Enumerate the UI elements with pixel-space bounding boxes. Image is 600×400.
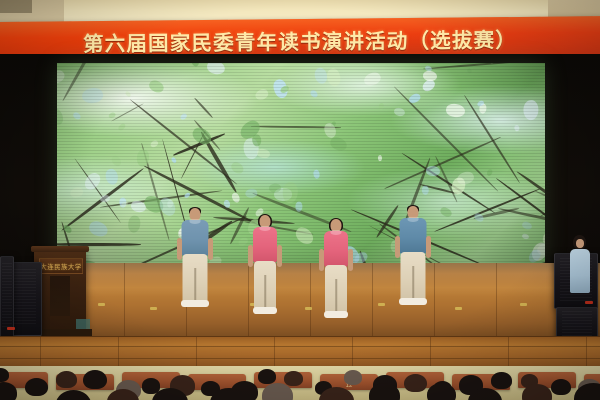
fascia-plank [40,337,119,369]
performer-4 [396,206,430,308]
performer-arm-left [248,245,253,267]
performer-shoes [181,300,209,307]
fascia-plank [508,337,587,369]
screen-foliage [309,89,319,99]
fascia-plank [196,337,275,369]
speaker-led-indicator [7,327,15,330]
floor-tape-marker [305,307,312,310]
wall-dark-panel [0,0,32,13]
screen-foliage [422,186,429,195]
screen-foliage [69,186,85,199]
screen-foliage [57,106,66,128]
screen-foliage [149,139,159,149]
stage-front-panel [0,336,600,369]
performer-leg-split [194,268,196,302]
fascia-plank [274,337,353,369]
performer-shirt [182,220,209,256]
performer-1 [178,208,212,308]
screen-foliage [99,194,110,203]
screen-foliage [81,86,104,105]
audience-head [56,371,78,389]
screen-foliage [256,148,271,160]
screen-foliage [87,219,110,239]
screen-foliage [72,111,82,120]
audience-head [25,378,48,397]
performer-shirt [400,218,427,254]
screen-foliage [313,66,329,85]
loudspeaker-left-side [0,256,14,338]
screen-foliage [254,88,270,102]
audience-head [258,369,276,384]
podium-name-plate: 大连民族大学 [39,258,83,274]
audience-head [284,371,302,386]
screen-foliage [206,63,226,75]
audience-head-front [56,390,92,400]
performer-shoes [253,307,277,314]
performer-3 [320,219,352,313]
audience-head-front [427,383,456,400]
screen-foliage [104,63,112,64]
screen-foliage [515,124,521,131]
floor-plank [496,263,559,336]
screen-foliage [104,167,120,186]
audience-head-front [522,384,552,400]
screen-image-tree [57,63,545,263]
screen-foliage [426,166,440,177]
attendant-body [570,249,590,293]
performer-leg-split [264,275,266,309]
fascia-plank [430,337,509,369]
screen-foliage [522,233,530,240]
screen-foliage [230,160,246,176]
audience-head [344,370,362,385]
performer-2 [249,215,281,311]
performer-collar [260,226,271,231]
speaker-led-indicator [585,301,593,304]
screen-branch [194,98,214,120]
floor-tape-marker [150,307,157,310]
screen-foliage [147,79,165,95]
audience-head [83,370,107,390]
screen-foliage [293,224,317,247]
screen-foliage [378,155,383,161]
performer-leg-split [335,279,337,313]
performer-collar [190,219,201,224]
screen-foliage [117,122,126,131]
screen-foliage [127,215,140,232]
podium-sign-text: 大连民族大学 [40,261,81,271]
screen-foliage [326,67,343,88]
fascia-plank [352,337,431,369]
screen-foliage [328,136,349,154]
floor-tape-marker [520,303,527,306]
performer-arm-right [348,249,353,271]
screen-foliage [313,169,321,179]
performer-collar [408,217,419,222]
floor-tape-marker [455,307,462,310]
screen-foliage [439,206,453,219]
fascia-plank [586,337,600,369]
floor-plank [434,263,497,336]
audience-head [551,379,571,396]
performer-shoes [399,298,427,305]
screen-foliage [393,107,405,117]
performer-leg-split [412,266,414,300]
screen-foliage [124,90,131,97]
performer-shirt [324,231,348,267]
screen-foliage [110,154,123,167]
screen-foliage [523,100,538,121]
screen-foliage [446,103,466,118]
performer-arm-right [208,238,213,260]
podium-top-surface [31,246,89,252]
floor-tape-marker [98,303,105,306]
screen-foliage [83,171,103,193]
screen-foliage [190,63,201,68]
performer-arm-right [426,236,431,258]
audience-head [491,372,512,389]
screen-foliage [170,157,176,164]
attendant-face [576,239,584,248]
audience-head [404,374,427,393]
screen-foliage [57,68,66,87]
performer-arm-left [395,236,400,258]
performer-arm-right [277,245,282,267]
podium-front-panel [50,276,70,316]
fascia-plank [118,337,197,369]
screen-foliage [422,70,437,81]
screen-branch [57,243,141,246]
audience-head-front [262,383,293,400]
stage-attendant [570,235,592,295]
performer-shoes [324,311,348,318]
performer-shirt [253,227,277,263]
screen-foliage [283,182,298,203]
screen-foliage [179,112,188,120]
screen-foliage [379,103,385,110]
screen-foliage [244,188,257,199]
auditorium-seating: 1213 [0,366,600,400]
podium-teal-object [76,319,90,329]
led-display-screen [57,63,545,263]
screen-foliage [363,70,383,88]
stage-floor [0,263,600,336]
auditorium-stage-photo: 第六届国家民委青年读书演讲活动（选拔赛） 大连民族大学 [0,0,600,400]
screen-foliage [521,220,533,230]
screen-foliage [466,68,472,74]
screen-foliage [231,192,241,204]
performer-arm-left [319,249,324,271]
screen-branch [111,103,144,122]
screen-foliage [486,169,493,177]
screen-foliage [183,191,191,198]
performer-arm-left [177,238,182,260]
floor-tape-marker [378,303,385,306]
screen-branch [423,63,524,70]
performer-collar [331,230,342,235]
